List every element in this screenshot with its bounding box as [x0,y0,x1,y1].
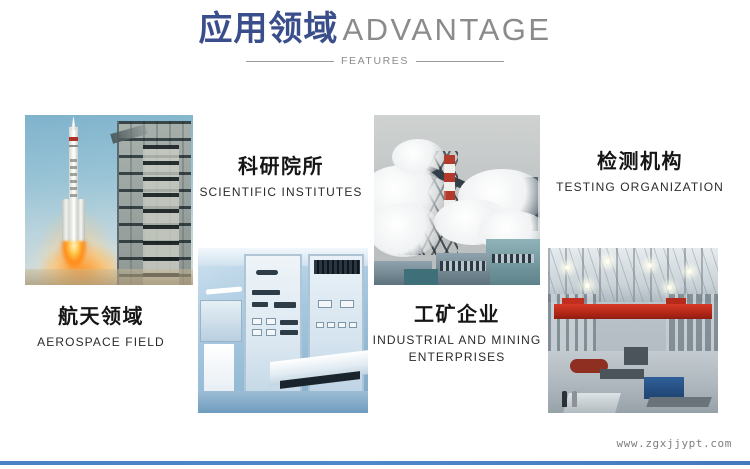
category-title-cn-industrial-mining: 工矿企业 [370,303,544,328]
factory-windows-shape [492,254,534,263]
page-title-en: ADVANTAGE [342,12,551,47]
worker-figure-shape [562,391,567,407]
warehouse-lamp-shape [604,258,611,265]
category-caption-scientific-institutes: 科研院所 SCIENTIFIC INSTITUTES [192,155,370,201]
machine-shape [624,347,648,365]
page-header: 应用领域ADVANTAGE FEATURES [0,0,750,67]
warehouse-lamp-shape [584,282,591,289]
warehouse-lamp-shape [646,262,653,269]
lab-slot-shape [274,302,296,308]
category-caption-aerospace: 航天领域 AEROSPACE FIELD [8,305,194,351]
launch-pad-ground-shape [25,269,193,285]
lab-button-shape [318,300,332,308]
warehouse-lamp-shape [564,264,571,271]
page-title-cn: 应用领域 [198,10,338,48]
lab-button-shape [252,329,262,336]
lab-left-equipment-shape [200,300,242,342]
category-title-en-scientific-institutes: SCIENTIFIC INSTITUTES [192,184,370,201]
rocket-booster-right-shape [77,199,85,245]
smoke-plume-shape [392,139,444,175]
category-caption-industrial-mining: 工矿企业 INDUSTRIAL AND MINING ENTERPRISES [370,303,544,367]
lab-button-shape [340,300,354,308]
category-title-en-testing-organization: TESTING ORGANIZATION [540,179,740,196]
subtitle-text: FEATURES [341,55,409,67]
lab-button-shape [327,322,335,328]
lab-white-box-shape [204,344,234,394]
overhead-crane-shape [554,304,712,319]
lab-button-shape [252,318,262,325]
subtitle-rule-left [246,61,334,62]
lab-light-shape [206,286,242,294]
footer-accent-bar [0,461,750,465]
rocket-red-band-shape [69,137,78,141]
lab-button-shape [266,318,276,325]
rocket-grey-band-shape [69,145,78,147]
lab-slot-shape [252,302,268,307]
factory-interior-photo [548,248,718,413]
category-title-cn-scientific-institutes: 科研院所 [192,155,370,180]
rocket-nose-cone-shape [71,116,76,130]
lab-slot-shape [252,290,280,295]
factory-windows-shape [440,261,486,271]
category-title-cn-aerospace: 航天领域 [8,305,194,330]
lab-slot-shape [280,320,298,325]
lab-handle-shape [256,270,278,275]
rocket-launch-photo [25,115,193,285]
category-caption-testing-organization: 检测机构 TESTING ORGANIZATION [540,150,740,196]
subtitle-rule-right [416,61,504,62]
category-title-en-industrial-mining: INDUSTRIAL AND MINING ENTERPRISES [370,332,544,367]
launch-tower-inner-shape [143,145,179,285]
rocket-markings-shape [70,159,77,199]
blue-machine-shape [644,377,684,399]
lab-button-shape [349,322,357,328]
lab-dark-panel-shape [314,260,360,274]
laboratory-instruments-photo [198,248,368,413]
worker-figure-shape [572,391,577,407]
factory-unit-shape [404,269,438,285]
category-title-cn-testing-organization: 检测机构 [540,150,740,175]
lab-slot-shape [280,330,298,335]
machine-shape [600,369,644,379]
lab-button-shape [316,322,324,328]
machine-shape [646,397,712,407]
lab-button-shape [338,322,346,328]
factory-smokestacks-photo [374,115,540,285]
warehouse-lamp-shape [686,268,693,275]
lab-button-shape [266,329,276,336]
warehouse-lamp-shape [666,284,673,291]
footer-website-url: www.zgxjjypt.com [616,437,732,450]
lab-floor-shape [198,391,368,413]
category-title-en-aerospace: AEROSPACE FIELD [8,334,194,351]
subtitle-row: FEATURES [0,55,750,67]
page-title: 应用领域ADVANTAGE [0,12,750,46]
